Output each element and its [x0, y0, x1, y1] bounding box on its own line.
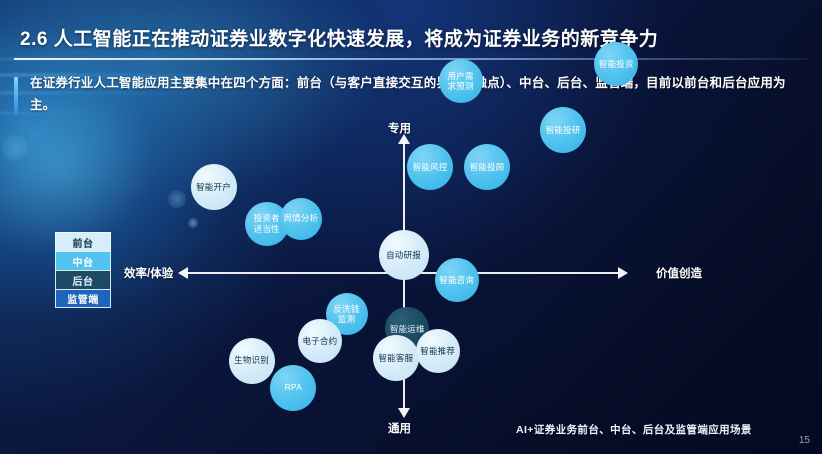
- bubble-label: 电子合约: [302, 336, 337, 347]
- bubble-11[interactable]: 电子合约: [298, 319, 342, 363]
- y-axis-down-arrow-icon: [398, 408, 410, 418]
- bubble-label: 智能投研: [546, 125, 581, 136]
- x-axis-left-arrow-icon: [178, 267, 188, 279]
- bubble-label: 用户需求预测: [447, 71, 473, 92]
- x-axis-label-left: 效率/体验: [124, 265, 173, 281]
- bubble-5[interactable]: 智能投研: [540, 107, 586, 153]
- bubble-label: 舆情分析: [283, 213, 318, 224]
- slide-canvas: 2.6 人工智能正在推动证券业数字化快速发展，将成为证券业务的新竞争力 在证券行…: [0, 0, 822, 454]
- bubble-7[interactable]: 智能投顾: [464, 144, 510, 190]
- bubble-9[interactable]: 智能咨询: [435, 258, 479, 302]
- bubble-16[interactable]: 智能推荐: [416, 329, 460, 373]
- bubble-label: 智能风控: [413, 162, 448, 173]
- bubble-6[interactable]: 智能风控: [407, 144, 453, 190]
- bubble-label: 投资者适当性: [254, 213, 280, 234]
- bubble-label: 自动研报: [386, 250, 421, 261]
- y-axis-label-top: 专用: [388, 120, 411, 136]
- y-axis-label-bottom: 通用: [388, 420, 411, 436]
- bubble-label: 智能推荐: [420, 346, 455, 357]
- bubble-label: 生物识别: [234, 355, 269, 366]
- bubble-label: 反洗钱监测: [333, 304, 359, 325]
- bubble-2[interactable]: 舆情分析: [280, 198, 322, 240]
- x-axis-label-right: 价值创造: [656, 265, 702, 281]
- chart-caption: AI+证券业务前台、中台、后台及监管端应用场景: [516, 422, 752, 437]
- page-number: 15: [799, 435, 810, 446]
- bubble-label: RPA: [285, 382, 302, 393]
- bubble-4[interactable]: 智能投资: [594, 42, 638, 86]
- bubble-label: 智能客服: [378, 353, 413, 364]
- bubble-chart: 效率/体验 价值创造 专用 通用 智能开户投资者适当性舆情分析用户需求预测智能投…: [0, 0, 822, 454]
- bubble-12[interactable]: 生物识别: [229, 338, 275, 384]
- bubble-label: 智能咨询: [439, 275, 474, 286]
- bubble-8[interactable]: 自动研报: [379, 230, 429, 280]
- bubble-0[interactable]: 智能开户: [191, 164, 237, 210]
- x-axis-right-arrow-icon: [618, 267, 628, 279]
- bubble-label: 智能运维: [390, 324, 425, 335]
- bubble-3[interactable]: 用户需求预测: [439, 59, 483, 103]
- bubble-label: 智能投资: [599, 59, 634, 70]
- bubble-label: 智能投顾: [470, 162, 505, 173]
- bubble-13[interactable]: RPA: [270, 365, 316, 411]
- bubble-15[interactable]: 智能客服: [373, 335, 419, 381]
- bubble-label: 智能开户: [196, 182, 231, 193]
